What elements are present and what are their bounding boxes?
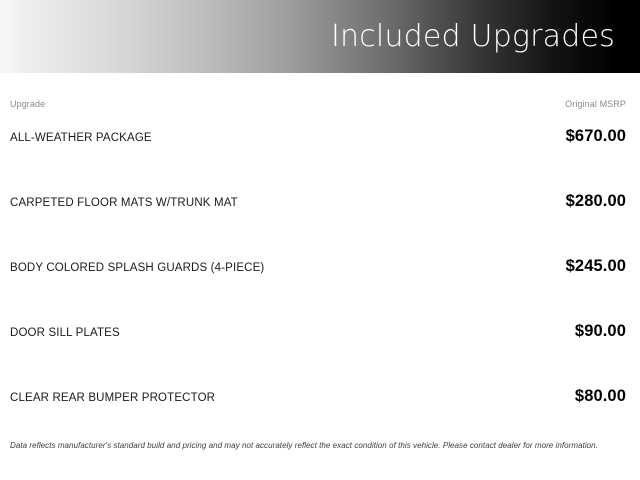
upgrade-price: $80.00 bbox=[575, 387, 626, 406]
column-header-upgrade: Upgrade bbox=[10, 99, 45, 109]
table-rows: ALL-WEATHER PACKAGE $670.00 CARPETED FLO… bbox=[10, 127, 626, 452]
header-banner: Included Upgrades bbox=[0, 0, 640, 73]
table-row: BODY COLORED SPLASH GUARDS (4-PIECE) $24… bbox=[10, 257, 626, 322]
upgrade-price: $245.00 bbox=[566, 257, 626, 276]
upgrade-name: BODY COLORED SPLASH GUARDS (4-PIECE) bbox=[10, 262, 264, 274]
upgrade-price: $280.00 bbox=[566, 192, 626, 211]
page-title: Included Upgrades bbox=[331, 22, 615, 52]
upgrade-price: $670.00 bbox=[566, 127, 626, 146]
included-upgrades-page: Included Upgrades Upgrade Original MSRP … bbox=[0, 0, 640, 480]
upgrade-name: DOOR SILL PLATES bbox=[10, 327, 120, 339]
upgrade-name: CARPETED FLOOR MATS W/TRUNK MAT bbox=[10, 197, 238, 209]
table-column-headers: Upgrade Original MSRP bbox=[10, 73, 626, 109]
table-row: DOOR SILL PLATES $90.00 bbox=[10, 322, 626, 387]
column-header-original-msrp: Original MSRP bbox=[565, 99, 626, 109]
upgrade-name: CLEAR REAR BUMPER PROTECTOR bbox=[10, 392, 215, 404]
upgrades-table: Upgrade Original MSRP ALL-WEATHER PACKAG… bbox=[0, 73, 640, 452]
upgrade-price: $90.00 bbox=[575, 322, 626, 341]
upgrade-name: ALL-WEATHER PACKAGE bbox=[10, 132, 152, 144]
disclaimer-text: Data reflects manufacturer's standard bu… bbox=[10, 441, 626, 451]
table-row: CARPETED FLOOR MATS W/TRUNK MAT $280.00 bbox=[10, 192, 626, 257]
table-row: ALL-WEATHER PACKAGE $670.00 bbox=[10, 127, 626, 192]
